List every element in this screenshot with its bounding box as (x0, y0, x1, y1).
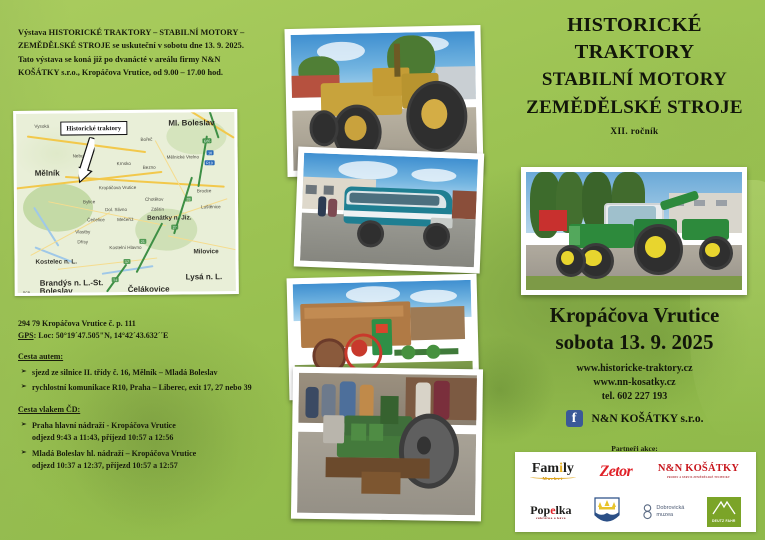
partner-popelka-name: Popelka (530, 503, 571, 517)
partner-nn-sub: PRODEJ A SERVIS ZEMĚDĚLSKÉ TECHNIKY (658, 477, 739, 480)
map-label: Krnsko (117, 161, 131, 166)
location-map[interactable]: 10 E65 R10 33 27 21 17 14 Vysoká Nebužel… (13, 109, 239, 296)
map-road-badge: R10 (205, 160, 215, 165)
page-title-line1: HISTORICKÉ (504, 14, 765, 37)
map-label: Kropáčova Vrutice (99, 185, 136, 190)
crest-icon (594, 497, 620, 527)
car-directions-list: sjezd ze silnice II. třídy č. 16, Mělník… (18, 367, 260, 395)
page-title-line4: ZEMĚDĚLSKÉ STROJE (504, 97, 765, 119)
map-road-badge: E65 (202, 138, 211, 143)
list-item: rychlostní komunikace R10, Praha – Liber… (32, 382, 260, 394)
map-label: Mečeříž (117, 217, 133, 222)
partner-dobrovicka-name: Dobrovická (656, 505, 684, 512)
photo-green-zetor-tractor (521, 167, 747, 295)
map-road-badge: 17 (123, 259, 130, 264)
event-place: Kropáčova Vrutice (504, 303, 765, 328)
partner-logo-family-market: Family Market (532, 462, 574, 482)
website-secondary[interactable]: www.nn-kosatky.cz (504, 376, 765, 390)
partner-logo-deutz-fahr: DEUTZ FAHR (707, 497, 741, 527)
map-label: Benátky n. Jiz. (147, 214, 191, 221)
contact-block: www.historicke-traktory.cz www.nn-kosatk… (504, 362, 765, 405)
map-road-badge: 27 (171, 225, 178, 230)
page-title-line2: TRAKTORY (504, 41, 765, 64)
intro-paragraph: Výstava HISTORICKÉ TRAKTORY – STABILNÍ M… (18, 26, 258, 80)
partner-logo-popelka: Popelka cukrárna a káva (530, 504, 571, 520)
partner-logo-municipal-crest (594, 497, 620, 527)
map-road-badge: 10 (207, 150, 214, 155)
deutz-mark-icon (707, 500, 741, 515)
poster-root: Výstava HISTORICKÉ TRAKTORY – STABILNÍ M… (0, 0, 765, 540)
car-directions-heading: Cesta autem: (18, 351, 260, 363)
map-label: Vlastby (75, 229, 90, 234)
facebook-row[interactable]: f N&N KOŠÁTKY s.r.o. (504, 410, 765, 427)
left-column: Výstava HISTORICKÉ TRAKTORY – STABILNÍ M… (0, 0, 270, 540)
partner-logo-zetor: Zetor (600, 463, 633, 481)
list-item: Mladá Boleslav hl. nádraží – Kropáčova V… (32, 448, 260, 473)
photo-collage (272, 0, 504, 540)
map-label: Ml. Boleslav (168, 118, 214, 127)
list-item: Praha hlavní nádraží - Kropáčova Vrutice… (32, 420, 260, 445)
partner-nn-name: N&N KOŠÁTKY (658, 463, 739, 474)
map-label: Milovice (193, 248, 218, 255)
map-label: Luštěnice (201, 204, 221, 209)
map-label: Chotětov (145, 197, 163, 202)
partner-logo-dobrovicka-muzea: Dobrovická muzea (642, 504, 684, 520)
train-directions-heading: Cesta vlakem ČD: (18, 404, 260, 416)
map-label: Dřísy (77, 239, 88, 244)
partner-zetor-name: Zetor (600, 463, 633, 481)
right-column: HISTORICKÉ TRAKTORY STABILNÍ MOTORY ZEMĚ… (504, 0, 765, 540)
sugar-beet-icon (642, 504, 653, 520)
map-label: Vysoká (34, 124, 49, 129)
partners-row-1: Family Market Zetor N&N KOŠÁTKY PRODEJ A… (515, 452, 756, 492)
photo-stationary-engine (291, 367, 483, 522)
map-arrow-icon (78, 137, 94, 183)
gps-value: : Loc: 50°19´47.505"N, 14°42´43.632´´E (34, 331, 169, 340)
partners-row-2: Popelka cukrárna a káva (515, 492, 756, 532)
map-label: Mělník (35, 169, 60, 178)
gps-label: GPS (18, 331, 34, 340)
phone-number: tel. 602 227 193 (504, 390, 765, 404)
map-label: Brandýs n. L.-St. Boleslav (40, 279, 118, 296)
partners-panel: Family Market Zetor N&N KOŠÁTKY PRODEJ A… (515, 452, 756, 532)
map-label: Dol. Slivno (105, 207, 127, 212)
partner-popelka-sub: cukrárna a káva (530, 517, 571, 520)
photo-vintage-blue-bus (294, 146, 484, 273)
address-block: 294 79 Kropáčova Vrutice č. p. 111 GPS: … (18, 318, 260, 475)
partner-deutz-name: DEUTZ FAHR (712, 520, 735, 527)
map-label: Zdětín (151, 207, 164, 212)
partner-logo-nn-kosatky: N&N KOŠÁTKY PRODEJ A SERVIS ZEMĚDĚLSKÉ T… (658, 464, 739, 479)
map-label: Brodce (197, 188, 212, 193)
map-label: Bezno (143, 165, 156, 170)
edition-label: XII. ročník (504, 126, 765, 136)
list-item: sjezd ze silnice II. třídy č. 16, Mělník… (32, 367, 260, 379)
event-date: sobota 13. 9. 2025 (504, 330, 765, 355)
map-label: Mělnické Vtelno (167, 154, 199, 159)
map-callout-label: Historické traktory (60, 121, 127, 136)
facebook-icon[interactable]: f (566, 410, 583, 427)
map-road-badge: 21 (139, 239, 146, 244)
website-primary[interactable]: www.historicke-traktory.cz (504, 362, 765, 376)
page-title-line3: STABILNÍ MOTORY (504, 69, 765, 91)
map-label: Čelákovice (128, 285, 170, 294)
facebook-page-name: N&N KOŠÁTKY s.r.o. (592, 413, 704, 425)
map-label: nce (23, 290, 30, 295)
map-label: Lysá n. L. (186, 272, 223, 281)
map-label: Čečelice (87, 217, 105, 222)
partner-family-name: Family (532, 461, 574, 476)
map-label: Bořeč (140, 137, 152, 142)
map-label: Kostelec n. L. (35, 258, 77, 265)
partner-dobrovicka-sub: muzea (656, 512, 684, 519)
map-label: Bylice (83, 199, 95, 204)
map-label: Kostelní Hlavno (109, 245, 141, 250)
gps-line: GPS: Loc: 50°19´47.505"N, 14°42´43.632´´… (18, 330, 260, 342)
map-road-badge: 33 (185, 196, 192, 201)
train-directions-list: Praha hlavní nádraží - Kropáčova Vrutice… (18, 420, 260, 473)
address-line: 294 79 Kropáčova Vrutice č. p. 111 (18, 318, 260, 330)
